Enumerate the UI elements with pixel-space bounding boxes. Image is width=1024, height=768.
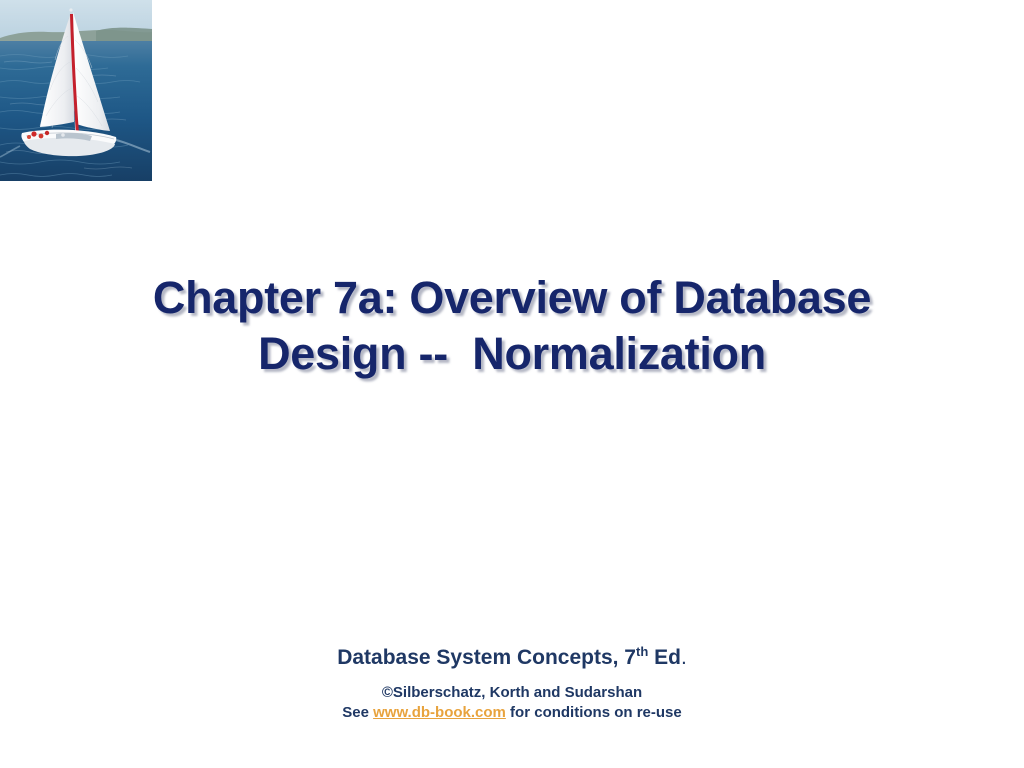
- copyright-line: ©Silberschatz, Korth and Sudarshan: [0, 683, 1024, 703]
- title-line-2: Design -- Normalization: [0, 326, 1024, 382]
- title-slide: Chapter 7a: Overview of Database Design …: [0, 0, 1024, 768]
- title-line-1: Chapter 7a: Overview of Database: [0, 270, 1024, 326]
- db-book-link[interactable]: www.db-book.com: [373, 704, 506, 721]
- slide-footer: Database System Concepts, 7th Ed. ©Silbe…: [0, 645, 1024, 723]
- book-title-line: Database System Concepts, 7th Ed.: [0, 645, 1024, 671]
- book-edition-ordinal: th: [636, 644, 648, 659]
- slide-title: Chapter 7a: Overview of Database Design …: [0, 270, 1024, 382]
- reuse-prefix: See: [342, 704, 373, 721]
- book-edition-tail: Ed: [648, 646, 681, 669]
- reuse-line: See www.db-book.com for conditions on re…: [0, 703, 1024, 723]
- book-title-text: Database System Concepts, 7: [337, 646, 636, 669]
- sailboat-photo: [0, 0, 152, 181]
- book-title-period: .: [681, 646, 687, 669]
- sailboat-photo-graphic: [0, 0, 152, 181]
- reuse-suffix: for conditions on re-use: [506, 704, 682, 721]
